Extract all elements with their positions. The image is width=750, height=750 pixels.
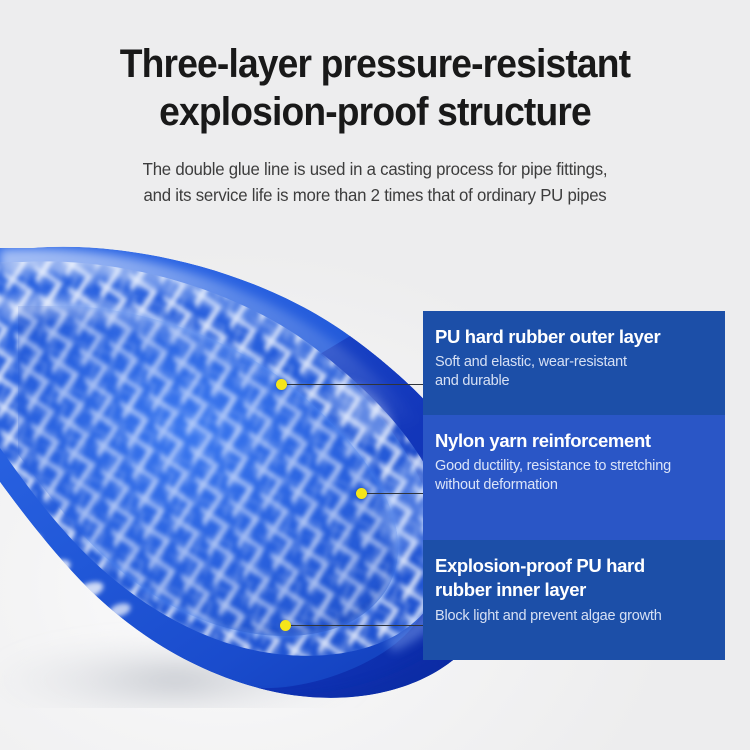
product-photo bbox=[0, 228, 466, 708]
page-title-line1: Three-layer pressure-resistant bbox=[26, 41, 724, 87]
callout-title-line1: Explosion-proof PU hard bbox=[435, 555, 645, 576]
callout-panel-outer-layer: PU hard rubber outer layer Soft and elas… bbox=[423, 311, 725, 415]
callout-panel-title: PU hard rubber outer layer bbox=[435, 325, 711, 348]
page-title-line2: explosion-proof structure bbox=[26, 89, 724, 135]
callout-desc-line1: Good ductility, resistance to stretching bbox=[435, 458, 671, 474]
callout-panel-description: Good ductility, resistance to stretching… bbox=[435, 457, 711, 495]
callout-panel-inner-layer: Explosion-proof PU hard rubber inner lay… bbox=[423, 540, 725, 660]
callout-desc-line1: Soft and elastic, wear-resistant bbox=[435, 354, 627, 370]
callout-title-line2: rubber inner layer bbox=[435, 579, 586, 600]
page-subtitle-line1: The double glue line is used in a castin… bbox=[15, 157, 735, 182]
page-subtitle-line2: and its service life is more than 2 time… bbox=[15, 183, 735, 208]
callout-panel-description: Soft and elastic, wear-resistant and dur… bbox=[435, 353, 711, 391]
callout-desc-line2: without deformation bbox=[435, 477, 558, 493]
callout-panel-description: Block light and prevent algae growth bbox=[435, 607, 711, 626]
callout-panel-title: Explosion-proof PU hard rubber inner lay… bbox=[435, 554, 711, 602]
header: Three-layer pressure-resistant explosion… bbox=[0, 0, 750, 208]
callout-panel-stack: PU hard rubber outer layer Soft and elas… bbox=[423, 311, 725, 660]
callout-panel-title: Nylon yarn reinforcement bbox=[435, 429, 711, 452]
callout-panel-nylon-yarn: Nylon yarn reinforcement Good ductility,… bbox=[423, 415, 725, 540]
callout-desc-line2: and durable bbox=[435, 373, 509, 389]
infographic-page: Three-layer pressure-resistant explosion… bbox=[0, 0, 750, 750]
